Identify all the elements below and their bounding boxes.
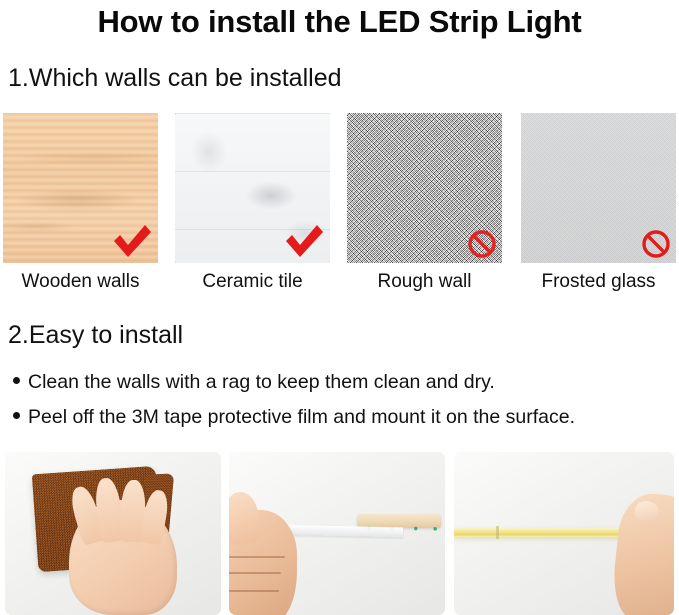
instruction-photo-row bbox=[0, 452, 679, 615]
instruction-text: Clean the walls with a rag to keep them … bbox=[28, 371, 495, 393]
section-2-heading: 2.Easy to install bbox=[8, 320, 183, 350]
wall-type-label: Frosted glass bbox=[521, 270, 676, 294]
instruction-bullet-2: Peel off the 3M tape protective film and… bbox=[13, 405, 575, 429]
wood-grain-texture bbox=[3, 113, 158, 263]
section-1-heading: 1.Which walls can be installed bbox=[8, 63, 342, 93]
prohibition-sign-icon bbox=[467, 229, 497, 259]
frosted-glass-texture bbox=[521, 113, 676, 263]
instruction-text: Peel off the 3M tape protective film and… bbox=[28, 406, 575, 428]
check-mark-icon bbox=[111, 223, 153, 259]
photo-peeling-tape-film bbox=[229, 452, 445, 615]
wall-type-ceramic-tile: Ceramic tile bbox=[175, 113, 330, 294]
page-title: How to install the LED Strip Light bbox=[0, 2, 679, 42]
hand bbox=[69, 500, 177, 615]
wall-type-label: Wooden walls bbox=[3, 270, 158, 294]
wall-type-row: Wooden walls Ceramic tile Rough wall bbox=[0, 113, 679, 293]
fingernail bbox=[634, 500, 660, 522]
wall-type-label: Ceramic tile bbox=[175, 270, 330, 294]
hex-marble-texture bbox=[175, 113, 330, 263]
finger-crease bbox=[229, 590, 279, 592]
finger-crease bbox=[229, 572, 281, 574]
wall-type-wooden-walls: Wooden walls bbox=[3, 113, 158, 294]
prohibition-sign-icon bbox=[641, 229, 671, 259]
bullet-dot-icon bbox=[13, 412, 20, 419]
instruction-bullet-1: Clean the walls with a rag to keep them … bbox=[13, 370, 495, 394]
photo-hand-wiping-wall bbox=[5, 452, 221, 615]
wall-type-label: Rough wall bbox=[347, 270, 502, 294]
rough-stucco-texture bbox=[347, 113, 502, 263]
check-mark-icon bbox=[283, 223, 325, 259]
hand bbox=[229, 510, 297, 615]
bullet-dot-icon bbox=[13, 377, 20, 384]
finger-crease bbox=[229, 556, 285, 558]
wall-type-rough-wall: Rough wall bbox=[347, 113, 502, 294]
wall-type-frosted-glass: Frosted glass bbox=[521, 113, 676, 294]
photo-pressing-led-strip bbox=[454, 452, 674, 615]
